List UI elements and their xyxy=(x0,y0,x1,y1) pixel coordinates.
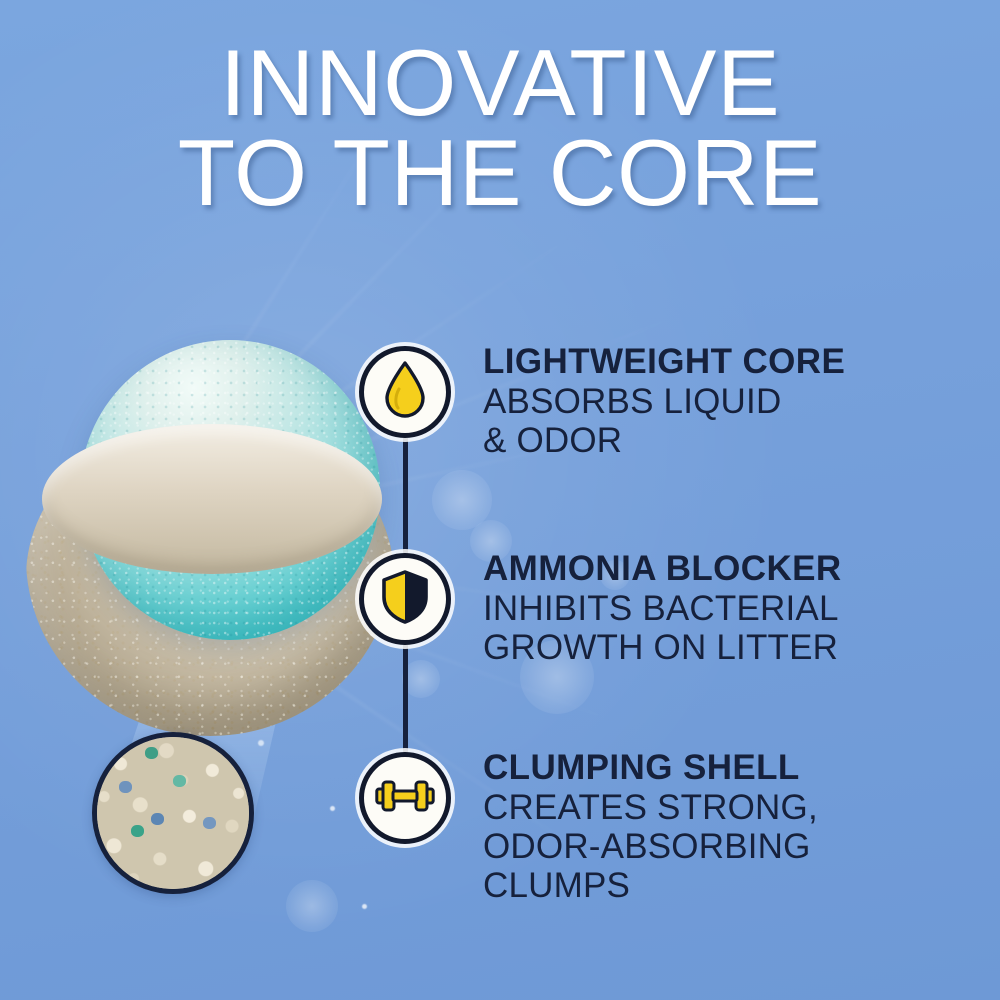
feature-icon-droplet[interactable] xyxy=(359,346,451,438)
feature-icon-dumbbell[interactable] xyxy=(359,752,451,844)
feature-description: CREATES STRONG, ODOR-ABSORBING CLUMPS xyxy=(483,788,953,906)
feature-text-2: AMMONIA BLOCKER INHIBITS BACTERIAL GROWT… xyxy=(483,550,953,667)
connector-line-2 xyxy=(403,645,408,755)
feature-description: ABSORBS LIQUID & ODOR xyxy=(483,382,953,460)
feature-list: LIGHTWEIGHT CORE ABSORBS LIQUID & ODOR A… xyxy=(0,0,1000,1000)
feature-text-1: LIGHTWEIGHT CORE ABSORBS LIQUID & ODOR xyxy=(483,343,953,460)
shield-icon xyxy=(380,569,430,630)
droplet-icon xyxy=(382,361,428,424)
feature-title: LIGHTWEIGHT CORE xyxy=(483,343,953,380)
feature-text-3: CLUMPING SHELL CREATES STRONG, ODOR-ABSO… xyxy=(483,749,953,906)
feature-description: INHIBITS BACTERIAL GROWTH ON LITTER xyxy=(483,589,953,667)
feature-title: CLUMPING SHELL xyxy=(483,749,953,786)
connector-line-1 xyxy=(403,438,408,556)
dumbbell-icon xyxy=(375,776,435,821)
feature-icon-shield[interactable] xyxy=(359,553,451,645)
infographic-canvas: INNOVATIVE TO THE CORE LIG xyxy=(0,0,1000,1000)
feature-title: AMMONIA BLOCKER xyxy=(483,550,953,587)
